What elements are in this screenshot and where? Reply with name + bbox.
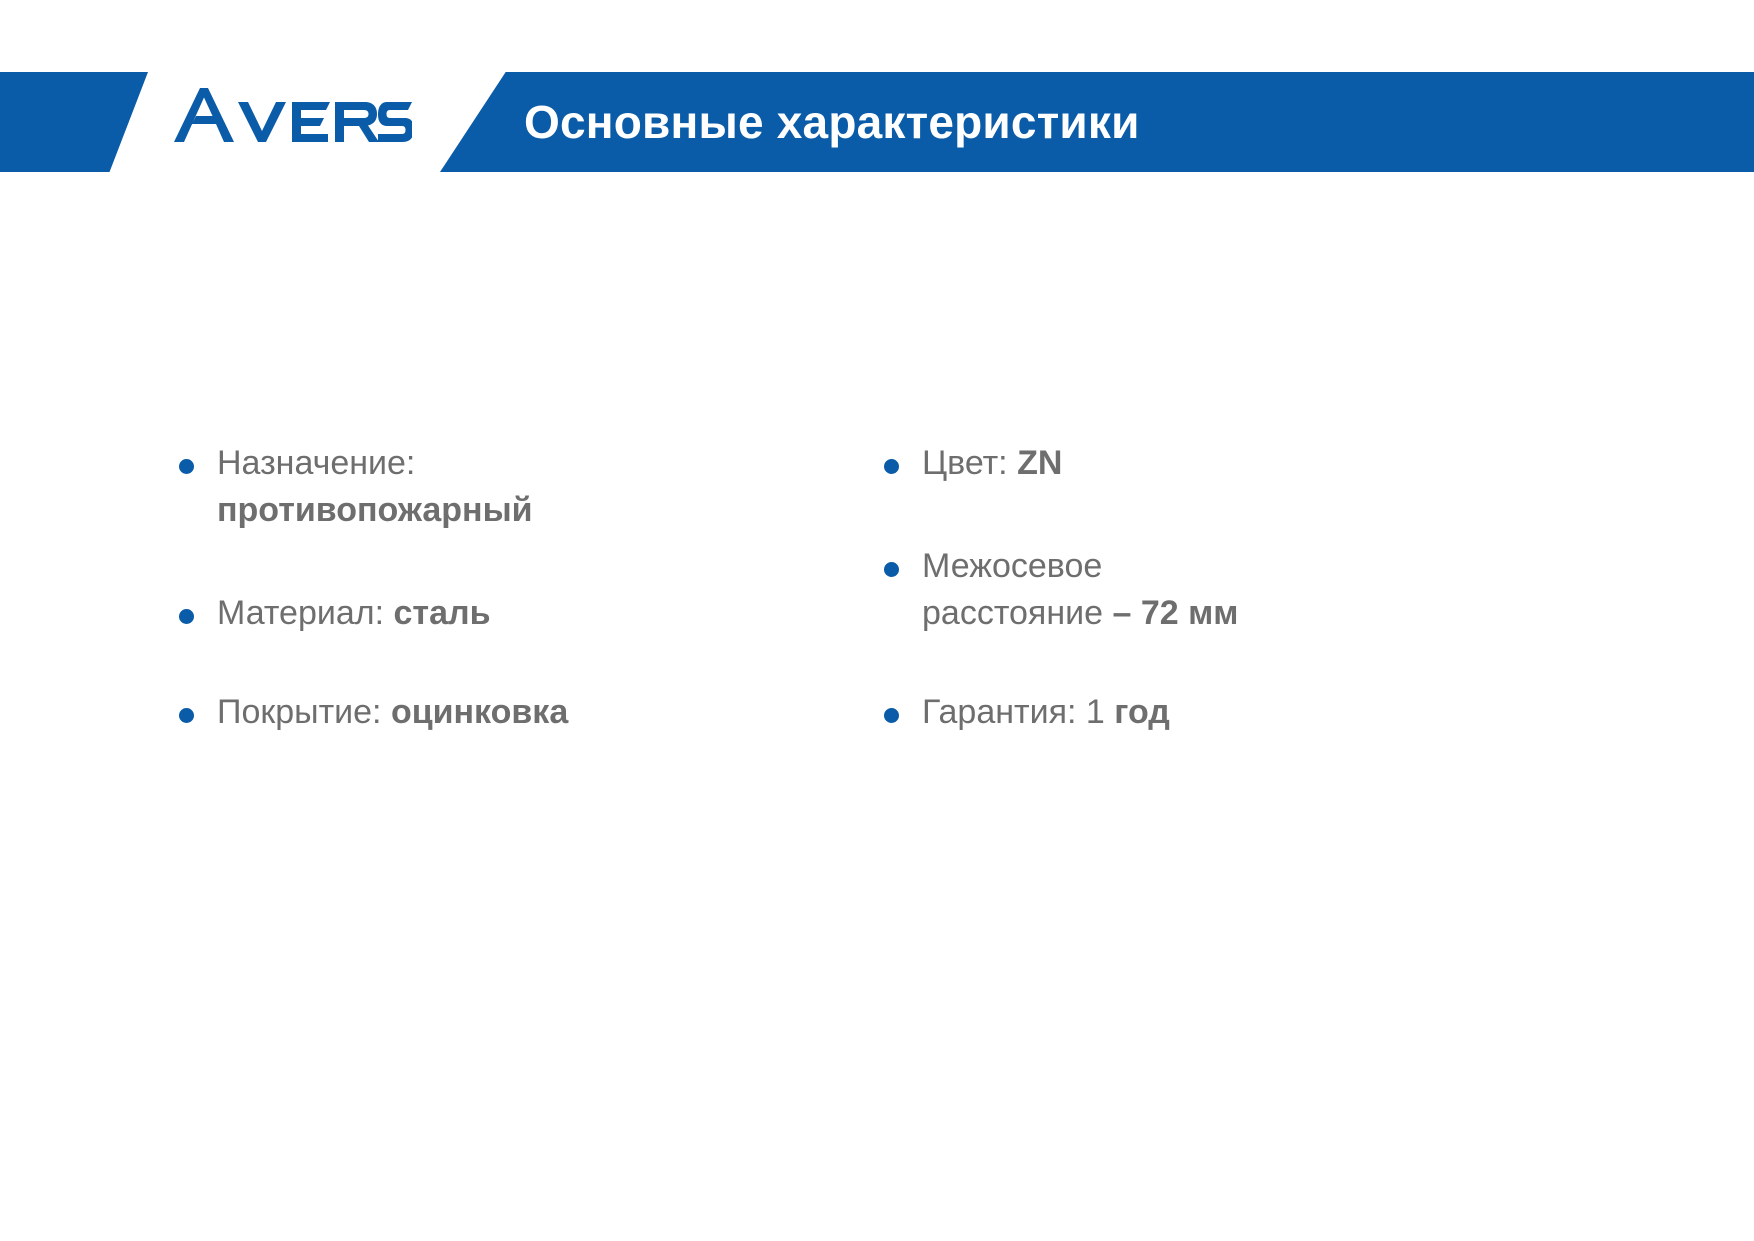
bullet-dot-icon	[179, 708, 194, 723]
list-item: Цвет: ZN	[880, 440, 1500, 487]
list-item: Гарантия: 1 год	[880, 689, 1500, 736]
spec-value: – 72 мм	[1112, 594, 1238, 632]
spec-value: противопожарный	[217, 491, 533, 529]
spec-value: ZN	[1017, 444, 1062, 482]
bullet-dot-icon	[179, 609, 194, 624]
avers-logo	[172, 86, 412, 144]
bullet-dot-icon	[884, 459, 899, 474]
spec-value: год	[1114, 693, 1170, 731]
slide-root: Основные характеристики Назнач	[0, 0, 1754, 1241]
bullet-dot-icon	[179, 459, 194, 474]
spec-value: сталь	[394, 594, 491, 632]
spec-label-continued: расстояние	[922, 594, 1103, 632]
spec-label: Межосевое	[922, 547, 1102, 585]
spec-column-left: Назначение: противопожарный Материал: ст…	[175, 440, 795, 788]
list-item: Покрытие: оцинковка	[175, 689, 795, 736]
page-title: Основные характеристики	[524, 72, 1140, 172]
header-accent-tab-left	[0, 72, 148, 172]
spec-label: Покрытие:	[217, 693, 382, 731]
list-item: Назначение: противопожарный	[175, 440, 795, 534]
spec-value: оцинковка	[391, 693, 568, 731]
spec-value-plain: 1	[1086, 693, 1105, 731]
bullet-dot-icon	[884, 708, 899, 723]
bullet-dot-icon	[884, 562, 899, 577]
list-item: Межосевое расстояние – 72 мм	[880, 543, 1500, 637]
spec-label: Гарантия:	[922, 693, 1076, 731]
spec-label: Цвет:	[922, 444, 1008, 482]
spec-column-right: Цвет: ZN Межосевое расстояние – 72 мм Га…	[880, 440, 1500, 788]
spec-label: Назначение:	[217, 444, 415, 482]
list-item: Материал: сталь	[175, 590, 795, 637]
spec-label: Материал:	[217, 594, 384, 632]
